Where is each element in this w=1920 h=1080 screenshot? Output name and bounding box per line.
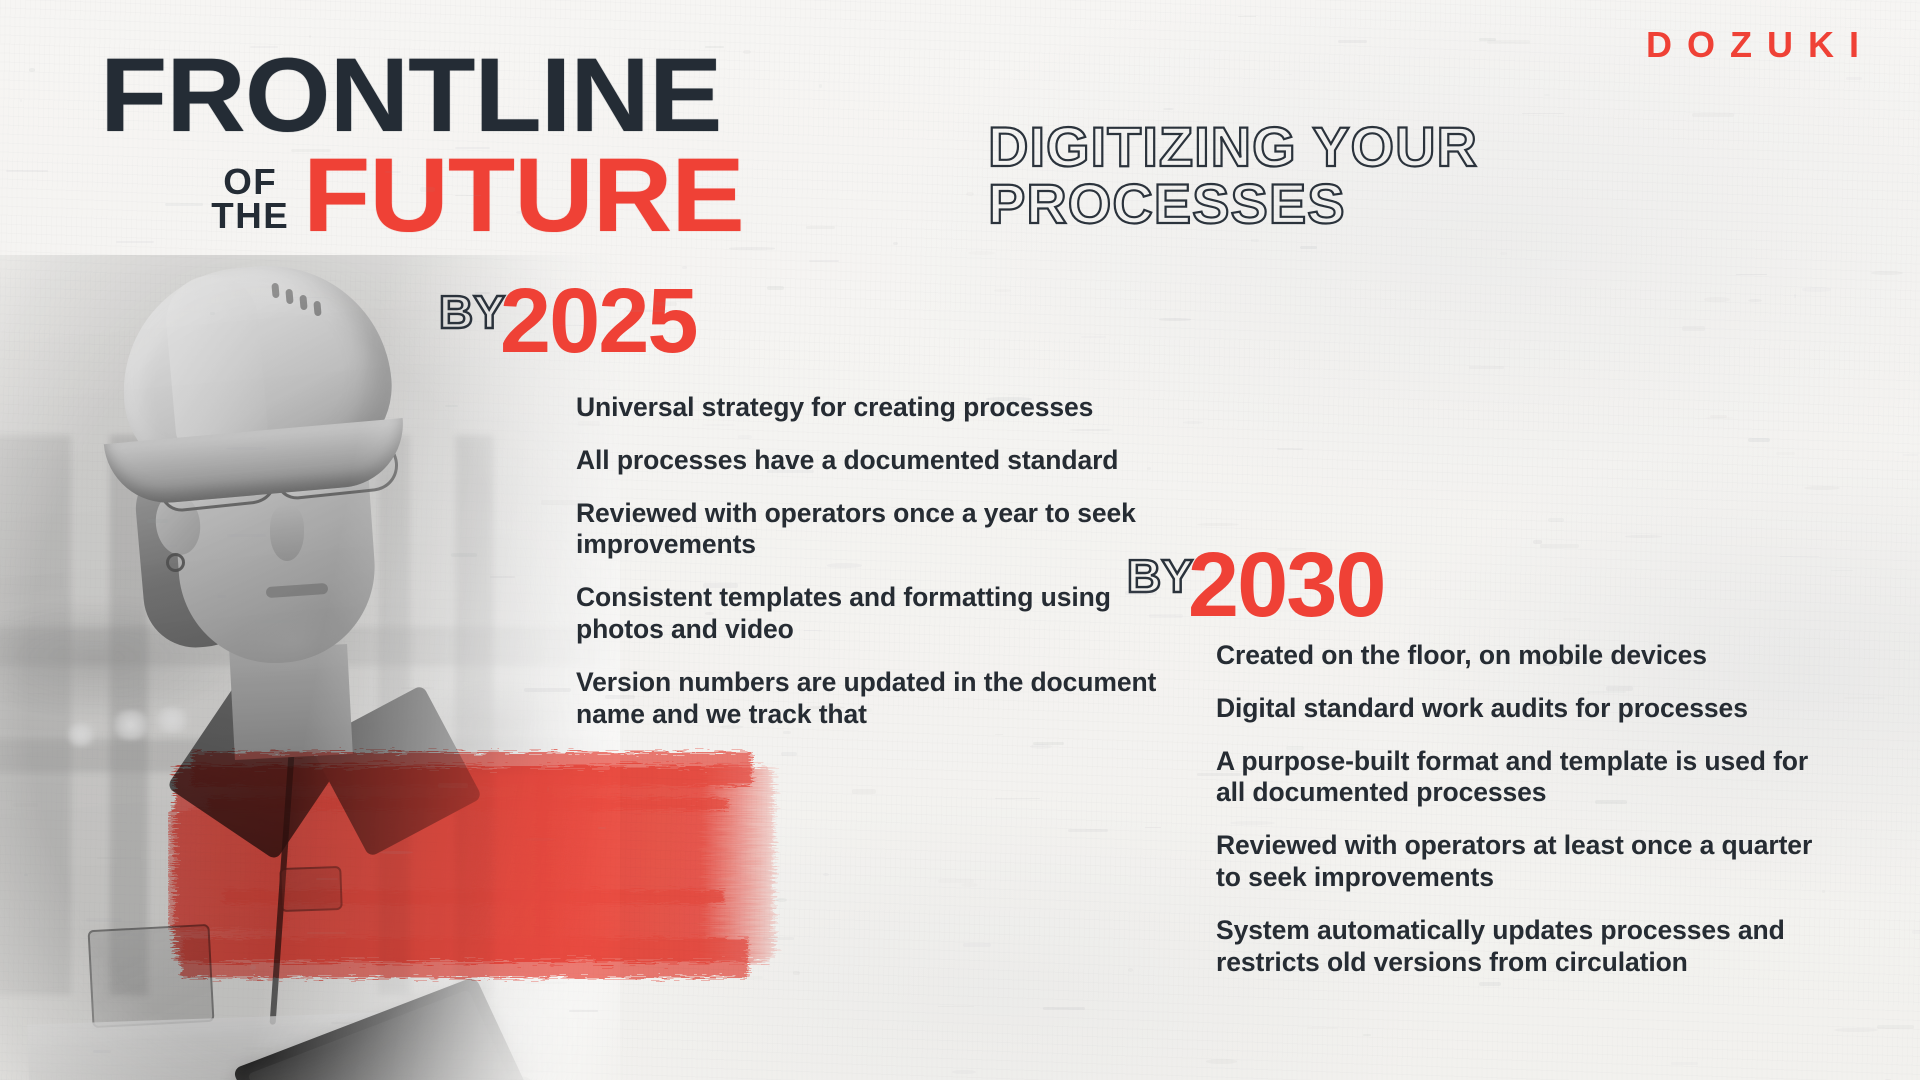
- list-item: Created on the floor, on mobile devices: [1216, 640, 1816, 672]
- paper-grain-speck: [968, 251, 995, 255]
- paper-grain-speck: [1206, 1059, 1237, 1064]
- paper-grain-speck: [1338, 40, 1367, 43]
- paper-grain-speck: [823, 873, 829, 876]
- paper-grain-speck: [1692, 113, 1734, 117]
- paper-grain-speck: [1522, 113, 1564, 115]
- paper-grain-speck: [806, 226, 835, 229]
- paper-grain-speck: [1159, 318, 1191, 321]
- paper-grain-speck: [1307, 1027, 1338, 1029]
- paper-grain-speck: [1903, 454, 1918, 457]
- paper-grain-speck: [1710, 415, 1727, 418]
- paper-grain-speck: [852, 789, 876, 794]
- by-label-2030: BY: [1127, 553, 1193, 599]
- paper-grain-speck: [1163, 108, 1175, 110]
- paper-grain-speck: [938, 879, 974, 883]
- paper-grain-speck: [1197, 523, 1238, 527]
- paper-grain-speck: [1844, 697, 1885, 699]
- paper-grain-speck: [1469, 366, 1503, 369]
- paper-grain-speck: [29, 68, 35, 72]
- paper-grain-speck: [1043, 1007, 1085, 1010]
- subtitle-block: DIGITIZING YOUR PROCESSES: [988, 118, 1478, 232]
- title-block: FRONTLINE OF THE FUTURE: [100, 48, 722, 243]
- slide-canvas: FRONTLINE OF THE FUTURE DIGITIZING YOUR …: [0, 0, 1920, 1080]
- paper-grain-speck: [995, 798, 1041, 799]
- paper-grain-speck: [1834, 1028, 1878, 1033]
- by-label-2025: BY: [439, 289, 505, 335]
- list-item: Universal strategy for creating processe…: [576, 392, 1176, 424]
- title-second-row: OF THE FUTURE: [100, 149, 722, 244]
- milestone-list-2030: Created on the floor, on mobile devices …: [1216, 640, 1816, 999]
- paper-grain-speck: [1794, 294, 1795, 298]
- paper-grain-speck: [1479, 38, 1496, 40]
- paper-grain-speck: [1804, 486, 1840, 490]
- paper-grain-speck: [20, 99, 21, 103]
- paper-grain-speck: [1145, 827, 1162, 829]
- list-item: Reviewed with operators at least once a …: [1216, 830, 1816, 894]
- list-item: Version numbers are updated in the docum…: [576, 667, 1176, 731]
- brush-stroke-svg: [168, 740, 788, 998]
- paper-grain-speck: [1802, 287, 1831, 291]
- subtitle-line-2: PROCESSES: [988, 175, 1478, 232]
- paper-grain-speck: [1251, 239, 1259, 242]
- list-item: Reviewed with operators once a year to s…: [576, 498, 1176, 562]
- list-item: System automatically updates processes a…: [1216, 915, 1816, 979]
- title-of: OF: [211, 165, 289, 199]
- list-item: Consistent templates and formatting usin…: [576, 582, 1176, 646]
- paper-grain-speck: [1846, 77, 1862, 80]
- paper-grain-speck: [1831, 570, 1854, 572]
- paper-grain-speck: [1363, 1034, 1371, 1036]
- paper-grain-speck: [1748, 438, 1771, 442]
- paper-grain-speck: [1877, 1025, 1913, 1029]
- paper-grain-speck: [1300, 246, 1317, 249]
- paper-grain-speck: [1705, 417, 1734, 419]
- paper-grain-speck: [1780, 556, 1819, 558]
- paper-grain-speck: [819, 84, 823, 88]
- paper-grain-speck: [952, 1070, 976, 1074]
- paper-grain-speck: [1487, 40, 1530, 44]
- paper-grain-speck: [1548, 518, 1563, 522]
- paper-grain-speck: [1912, 930, 1920, 934]
- title-the: THE: [211, 199, 289, 233]
- paper-grain-speck: [1544, 94, 1550, 96]
- paper-grain-speck: [1500, 252, 1507, 255]
- dozuki-logo[interactable]: DOZUKI: [1646, 24, 1874, 66]
- milestone-heading-2030: BY 2030: [1128, 546, 1385, 625]
- paper-grain-speck: [682, 266, 687, 269]
- paper-grain-speck: [809, 260, 839, 262]
- paper-grain-speck: [1704, 297, 1730, 302]
- paper-grain-speck: [1871, 271, 1902, 275]
- paper-grain-speck: [6, 170, 49, 172]
- paper-grain-speck: [1671, 1062, 1697, 1066]
- paper-grain-speck: [1068, 829, 1107, 832]
- paper-grain-speck: [1081, 336, 1105, 338]
- title-frontline: FRONTLINE: [100, 48, 753, 145]
- paper-grain-speck: [1277, 448, 1303, 449]
- milestone-list-2025: Universal strategy for creating processe…: [576, 392, 1176, 751]
- year-2030: 2030: [1188, 546, 1385, 625]
- paper-grain-speck: [1822, 890, 1825, 894]
- paper-grain-speck: [1128, 968, 1133, 972]
- red-brush-stroke: [168, 740, 788, 998]
- paper-grain-speck: [1183, 421, 1203, 424]
- paper-grain-speck: [893, 242, 898, 245]
- paper-grain-speck: [966, 192, 974, 196]
- subtitle-line-1: DIGITIZING YOUR: [988, 118, 1478, 175]
- paper-grain-speck: [1540, 544, 1580, 548]
- paper-grain-speck: [1682, 326, 1704, 331]
- paper-grain-speck: [1736, 274, 1767, 275]
- list-item: Digital standard work audits for process…: [1216, 693, 1816, 725]
- paper-grain-speck: [938, 1006, 974, 1007]
- paper-grain-speck: [994, 289, 1010, 291]
- title-future: FUTURE: [303, 149, 744, 244]
- paper-grain-speck: [767, 286, 784, 291]
- paper-grain-speck: [961, 883, 977, 887]
- paper-grain-speck: [793, 971, 800, 975]
- paper-grain-speck: [963, 943, 991, 947]
- paper-grain-speck: [1748, 299, 1762, 303]
- title-of-the: OF THE: [211, 165, 289, 233]
- paper-grain-speck: [1533, 540, 1542, 544]
- year-2025: 2025: [500, 282, 697, 361]
- paper-grain-speck: [1625, 535, 1662, 538]
- list-item: A purpose-built format and template is u…: [1216, 746, 1816, 810]
- paper-grain-speck: [1563, 618, 1581, 621]
- milestone-heading-2025: BY 2025: [440, 282, 697, 361]
- paper-grain-speck: [1776, 452, 1795, 455]
- list-item: All processes have a documented standard: [576, 445, 1176, 477]
- paper-grain-speck: [1286, 74, 1292, 75]
- paper-grain-speck: [1238, 16, 1256, 17]
